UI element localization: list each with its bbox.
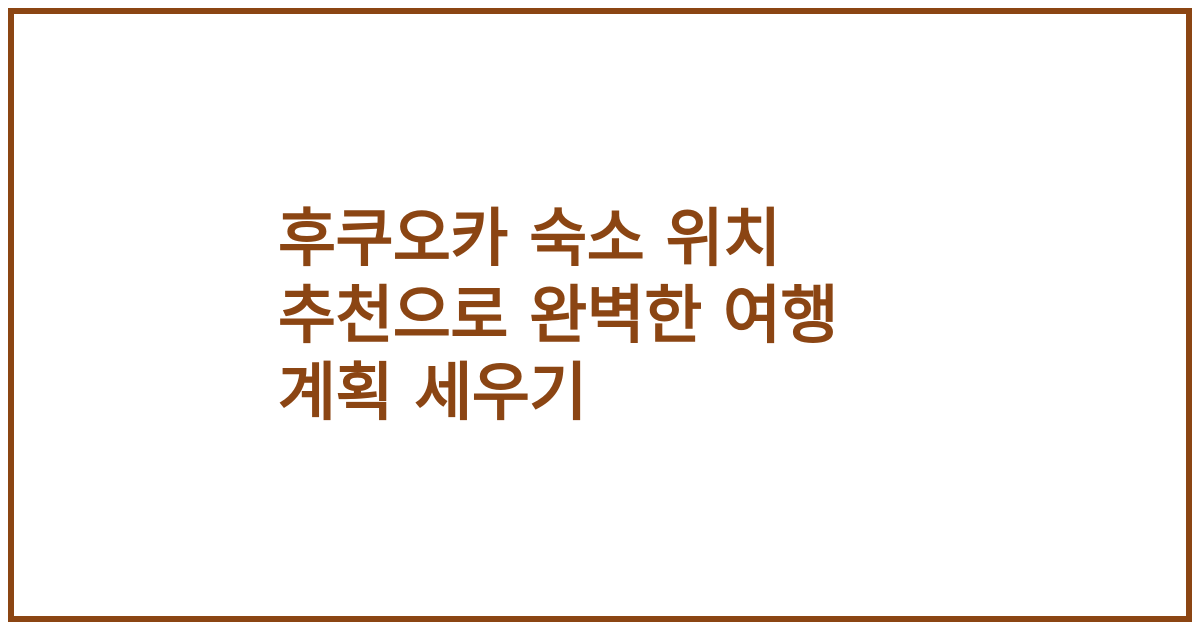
page-title: 후쿠오카 숙소 위치 추천으로 완벽한 여행 계획 세우기 [278, 200, 838, 431]
title-block: 후쿠오카 숙소 위치 추천으로 완벽한 여행 계획 세우기 [278, 0, 1138, 630]
thumbnail-card: 후쿠오카 숙소 위치 추천으로 완벽한 여행 계획 세우기 [0, 0, 1200, 630]
title-line-3: 계획 세우기 [278, 354, 838, 431]
title-line-1: 후쿠오카 숙소 위치 [278, 200, 838, 277]
title-line-2: 추천으로 완벽한 여행 [278, 277, 838, 354]
